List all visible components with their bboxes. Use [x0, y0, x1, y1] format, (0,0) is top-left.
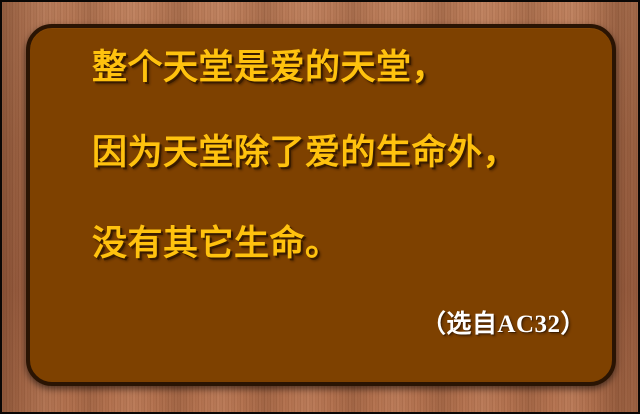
- quote-attribution: （选自AC32）: [421, 304, 586, 340]
- quote-panel: 整个天堂是爱的天堂， 因为天堂除了爱的生命外， 没有其它生命。 （选自AC32）: [26, 24, 616, 386]
- slide-canvas: 整个天堂是爱的天堂， 因为天堂除了爱的生命外， 没有其它生命。 （选自AC32）: [0, 0, 640, 414]
- quote-line-3: 没有其它生命。: [92, 226, 594, 261]
- quote-block: 整个天堂是爱的天堂， 因为天堂除了爱的生命外， 没有其它生命。: [92, 50, 594, 261]
- quote-line-2: 因为天堂除了爱的生命外，: [92, 135, 594, 170]
- quote-line-1: 整个天堂是爱的天堂，: [92, 50, 594, 85]
